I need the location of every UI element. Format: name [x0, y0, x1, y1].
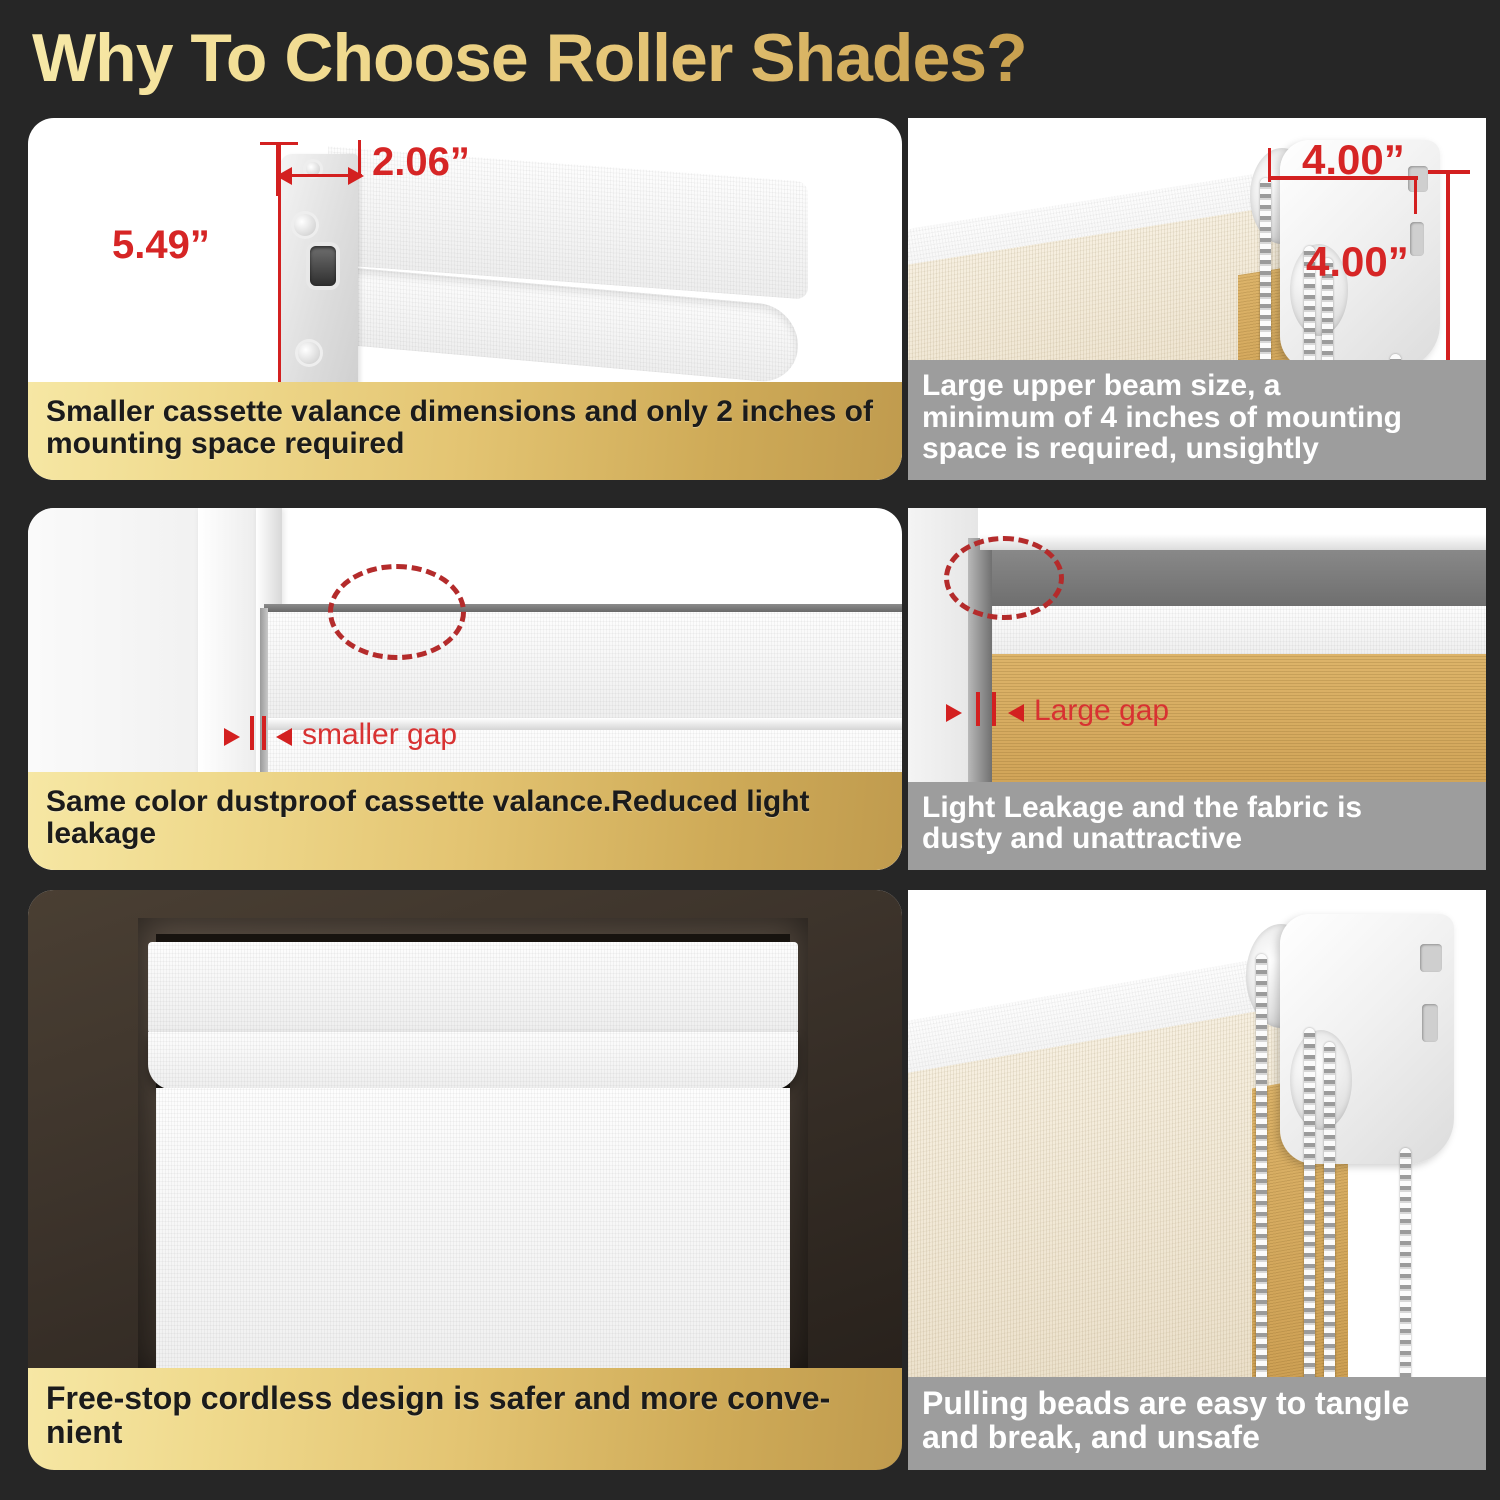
dim-v-tick-top: [1428, 170, 1470, 174]
page-title: Why To Choose Roller Shades?: [32, 14, 1232, 102]
dim-v-label: 4.00”: [1306, 238, 1409, 286]
gap-arrow-right: [946, 704, 962, 722]
gap-tick-left: [976, 692, 980, 726]
roller-end-cap-lower: [1290, 1030, 1352, 1130]
dim-v-line: [1446, 170, 1450, 370]
panel-5-caption: Free-stop cordless design is safer and m…: [28, 1368, 902, 1470]
gap-tick-right: [262, 716, 266, 750]
panel-4-caption-text: Light Leakage and the fabric is dusty an…: [922, 792, 1472, 854]
panel-4-caption: Light Leakage and the fabric is dusty an…: [908, 782, 1486, 870]
dim-h-tick-right: [1414, 180, 1417, 214]
panel-6-caption-text: Pulling beads are easy to tangle and bre…: [922, 1387, 1472, 1454]
panel-cassette-dimensions: 2.06” 5.49” Smaller cassette valance dim…: [28, 118, 902, 480]
cassette-screw-top: [294, 214, 316, 236]
gap-arrow-left: [1008, 704, 1024, 722]
dim-width-label: 2.06”: [372, 140, 470, 185]
cassette-slot: [310, 246, 336, 286]
dim-height-label: 5.49”: [112, 223, 210, 268]
gap-label: Large gap: [1034, 694, 1169, 728]
panel-5-caption-text: Free-stop cordless design is safer and m…: [46, 1382, 884, 1450]
gap-arrow-right: [224, 728, 240, 746]
shade-fabric: [156, 1088, 790, 1406]
gap-tick-right: [992, 692, 996, 726]
panel-large-gap: Large gap Light Leakage and the fabric i…: [908, 508, 1486, 870]
cassette-screw-bottom: [298, 342, 320, 364]
panel-3-caption-text: Same color dustproof cassette valance.Re…: [46, 786, 884, 850]
roller-top-highlight: [980, 534, 1486, 550]
panel-1-caption: Smaller cassette valance dimensions and …: [28, 382, 902, 480]
shade-fabric-white: [992, 606, 1486, 658]
panel-cordless-design: Free-stop cordless design is safer and m…: [28, 890, 902, 1470]
gap-label: smaller gap: [302, 718, 457, 752]
gap-highlight-ellipse: [328, 564, 466, 660]
dim-h-label: 4.00”: [1302, 136, 1405, 184]
infographic-page: Why To Choose Roller Shades? 2.06” 5.49”: [0, 0, 1500, 1500]
dim-width-arrow-right: [348, 167, 364, 185]
panel-6-caption: Pulling beads are easy to tangle and bre…: [908, 1377, 1486, 1470]
bracket-notch-bottom: [1422, 1004, 1438, 1042]
panel-1-caption-text: Smaller cassette valance dimensions and …: [46, 396, 884, 460]
gap-tick-left: [250, 716, 254, 750]
panel-large-beam: 4.00” 4.00” Large upper beam size, a min…: [908, 118, 1486, 480]
bracket-notch-top: [1420, 944, 1442, 972]
panel-3-caption: Same color dustproof cassette valance.Re…: [28, 772, 902, 870]
shade-valance: [148, 942, 798, 1034]
shade-roller: [148, 1032, 798, 1090]
gap-arrow-left: [276, 728, 292, 746]
panel-smaller-gap: smaller gap Same color dustproof cassett…: [28, 508, 902, 870]
bracket-notch-bottom: [1410, 222, 1424, 256]
panel-2-caption: Large upper beam size, a minimum of 4 in…: [908, 360, 1486, 480]
dim-height-tick-top: [260, 142, 298, 145]
panel-pulling-beads: Pulling beads are easy to tangle and bre…: [908, 890, 1486, 1470]
panel-2-caption-text: Large upper beam size, a minimum of 4 in…: [922, 370, 1472, 464]
gap-highlight-ellipse: [944, 536, 1064, 620]
